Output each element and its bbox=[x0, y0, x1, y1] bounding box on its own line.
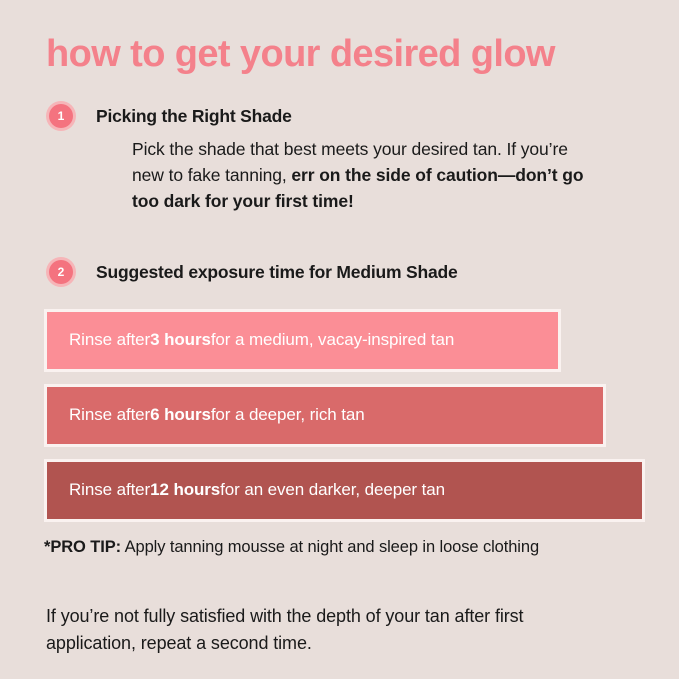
step-1-badge-wrap: 1 bbox=[46, 101, 82, 131]
closing-note: If you’re not fully satisfied with the d… bbox=[40, 603, 639, 657]
bar-2-suffix: for a deeper, rich tan bbox=[211, 405, 365, 425]
pro-tip-label: *PRO TIP: bbox=[44, 538, 121, 556]
exposure-time-bars: Rinse after 3 hours for a medium, vacay-… bbox=[40, 309, 639, 522]
bar-3-duration: 12 hours bbox=[150, 480, 220, 500]
step-2-badge-number: 2 bbox=[49, 260, 73, 284]
step-1-heading: Picking the Right Shade bbox=[82, 101, 292, 129]
bar-3-prefix: Rinse after bbox=[69, 480, 150, 500]
bar-1-prefix: Rinse after bbox=[69, 330, 150, 350]
bar-1-duration: 3 hours bbox=[150, 330, 211, 350]
pro-tip-text: Apply tanning mousse at night and sleep … bbox=[121, 538, 539, 556]
bar-2-duration: 6 hours bbox=[150, 405, 211, 425]
step-1-badge-number: 1 bbox=[49, 104, 73, 128]
bar-1-suffix: for a medium, vacay-inspired tan bbox=[211, 330, 454, 350]
pro-tip: *PRO TIP: Apply tanning mousse at night … bbox=[40, 536, 639, 560]
page-title: how to get your desired glow bbox=[40, 0, 639, 77]
bar-3-suffix: for an even darker, deeper tan bbox=[220, 480, 445, 500]
bar-2-prefix: Rinse after bbox=[69, 405, 150, 425]
step-2-heading: Suggested exposure time for Medium Shade bbox=[82, 257, 458, 285]
step-2: 2 Suggested exposure time for Medium Sha… bbox=[40, 257, 639, 287]
step-1: 1 Picking the Right Shade bbox=[40, 101, 639, 131]
glow-guide-page: how to get your desired glow 1 Picking t… bbox=[0, 0, 679, 679]
exposure-bar-6-hours: Rinse after 6 hours for a deeper, rich t… bbox=[44, 384, 606, 447]
exposure-bar-3-hours: Rinse after 3 hours for a medium, vacay-… bbox=[44, 309, 561, 372]
exposure-bar-12-hours: Rinse after 12 hours for an even darker,… bbox=[44, 459, 645, 522]
step-1-body: Pick the shade that best meets your desi… bbox=[40, 137, 639, 215]
step-2-badge-wrap: 2 bbox=[46, 257, 82, 287]
